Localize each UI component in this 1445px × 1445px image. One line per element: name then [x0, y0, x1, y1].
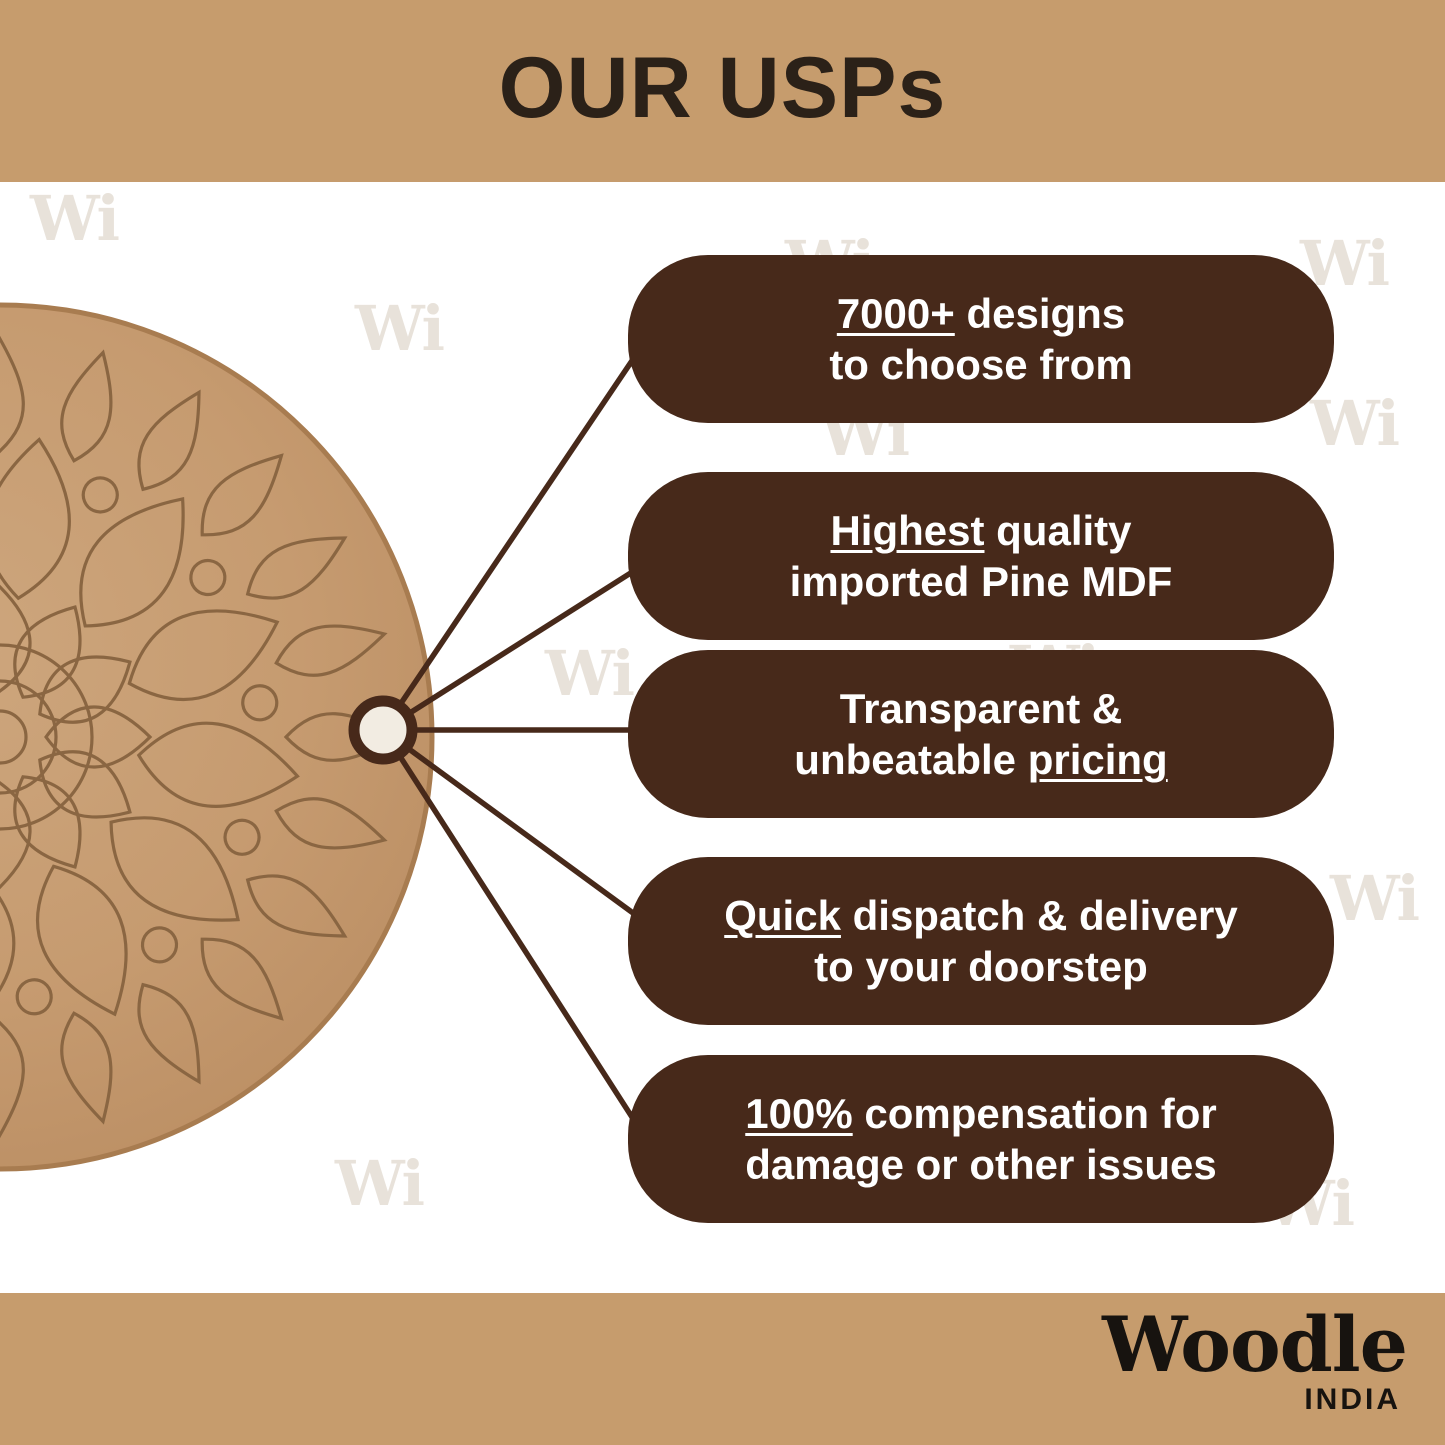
usp-pricing-highlight: pricing — [1028, 736, 1168, 783]
usp-compensation-line2: damage or other issues — [745, 1141, 1217, 1188]
usp-pill-quality[interactable]: Highest quality imported Pine MDF — [628, 472, 1334, 640]
usp-compensation-line1-rest: compensation for — [853, 1090, 1217, 1137]
usp-dispatch-highlight: Quick — [724, 892, 841, 939]
usp-pill-compensation[interactable]: 100% compensation for damage or other is… — [628, 1055, 1334, 1223]
brand-subtitle: INDIA — [1102, 1385, 1401, 1415]
usp-designs-line1-rest: designs — [955, 290, 1125, 337]
brand-logo: Woodle INDIA — [1102, 1307, 1407, 1415]
usp-infographic-page: OUR USPs Wi Wi Wi Wi Wi Wi Wi Wi Wi Wi W… — [0, 0, 1445, 1445]
usp-pill-pricing[interactable]: Transparent & unbeatable pricing — [628, 650, 1334, 818]
page-title: OUR USPs — [499, 45, 947, 137]
usp-designs-line2: to choose from — [829, 341, 1132, 388]
usp-quality-line2: imported Pine MDF — [790, 558, 1173, 605]
usp-text-quality: Highest quality imported Pine MDF — [790, 505, 1173, 607]
usp-text-dispatch: Quick dispatch & delivery to your doorst… — [724, 890, 1238, 992]
usp-text-pricing: Transparent & unbeatable pricing — [794, 683, 1167, 785]
usp-pill-dispatch[interactable]: Quick dispatch & delivery to your doorst… — [628, 857, 1334, 1025]
usp-quality-highlight: Highest — [830, 507, 984, 554]
usp-pill-designs[interactable]: 7000+ designs to choose from — [628, 255, 1334, 423]
hub-node — [354, 701, 412, 759]
brand-name: Woodle — [1102, 1307, 1407, 1383]
usp-pricing-line1: Transparent & — [840, 685, 1122, 732]
usp-designs-highlight: 7000+ — [837, 290, 955, 337]
usp-text-designs: 7000+ designs to choose from — [829, 288, 1132, 390]
usp-compensation-highlight: 100% — [745, 1090, 852, 1137]
usp-quality-line1-rest: quality — [984, 507, 1131, 554]
usp-text-compensation: 100% compensation for damage or other is… — [745, 1088, 1217, 1190]
usp-pricing-line2-pre: unbeatable — [794, 736, 1027, 783]
usp-dispatch-line1-rest: dispatch & delivery — [841, 892, 1238, 939]
footer-band: Woodle INDIA — [0, 1293, 1445, 1445]
header-band: OUR USPs — [0, 0, 1445, 182]
diagram-canvas: Wi Wi Wi Wi Wi Wi Wi Wi Wi Wi Wi — [0, 182, 1445, 1293]
usp-dispatch-line2: to your doorstep — [814, 943, 1148, 990]
